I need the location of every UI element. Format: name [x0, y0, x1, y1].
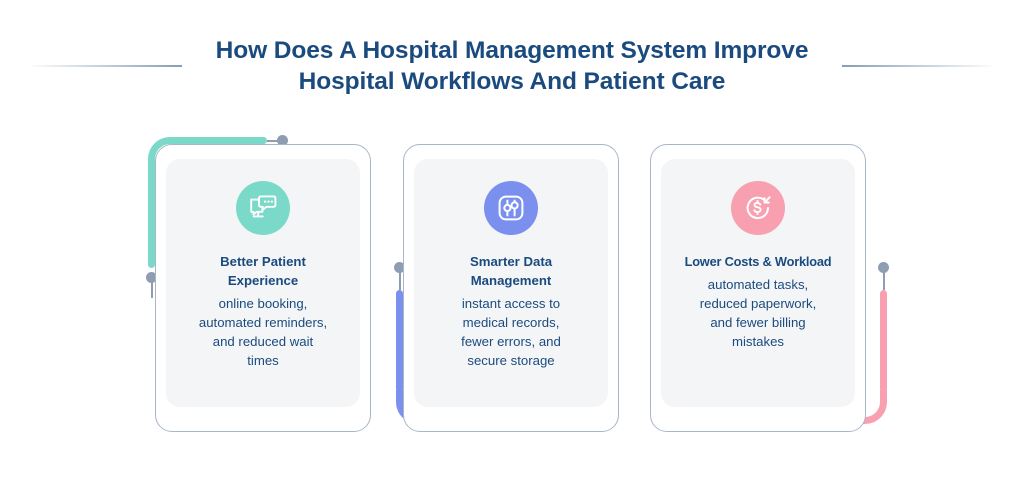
- card3-title: Lower Costs & Workload: [683, 252, 834, 271]
- card1-title: Better Patient Experience: [218, 252, 308, 290]
- header: How Does A Hospital Management System Im…: [0, 0, 1024, 132]
- card-lower-costs-workload[interactable]: Lower Costs & Workload automated tasks, …: [640, 132, 890, 452]
- benefit-cards-row: Better Patient Experience online booking…: [0, 132, 1024, 462]
- card-better-patient-experience[interactable]: Better Patient Experience online booking…: [145, 132, 395, 452]
- card1-panel: Better Patient Experience online booking…: [166, 159, 360, 407]
- card1-left-stub: [151, 282, 153, 298]
- page-title: How Does A Hospital Management System Im…: [182, 35, 842, 97]
- decorative-rule-left: [32, 65, 182, 67]
- card2-title: Smarter Data Management: [468, 252, 554, 290]
- card-smarter-data-management[interactable]: Smarter Data Management instant access t…: [393, 132, 643, 452]
- cost-reduction-dollar-icon: [731, 181, 785, 235]
- card2-body: instant access to medical records, fewer…: [455, 294, 567, 370]
- card1-accent-left: [148, 168, 155, 268]
- card2-panel: Smarter Data Management instant access t…: [414, 159, 608, 407]
- card3-accent-right: [880, 290, 887, 392]
- card3-dot-right: [878, 262, 889, 273]
- card2-accent-left: [396, 290, 403, 392]
- card3-body: automated tasks, reduced paperwork, and …: [694, 275, 823, 351]
- card1-body: online booking, automated reminders, and…: [193, 294, 333, 370]
- card3-panel: Lower Costs & Workload automated tasks, …: [661, 159, 855, 407]
- monitor-chat-icon: [236, 181, 290, 235]
- sliders-settings-icon: [484, 181, 538, 235]
- decorative-rule-right: [842, 65, 992, 67]
- card1-accent-top: [179, 137, 267, 144]
